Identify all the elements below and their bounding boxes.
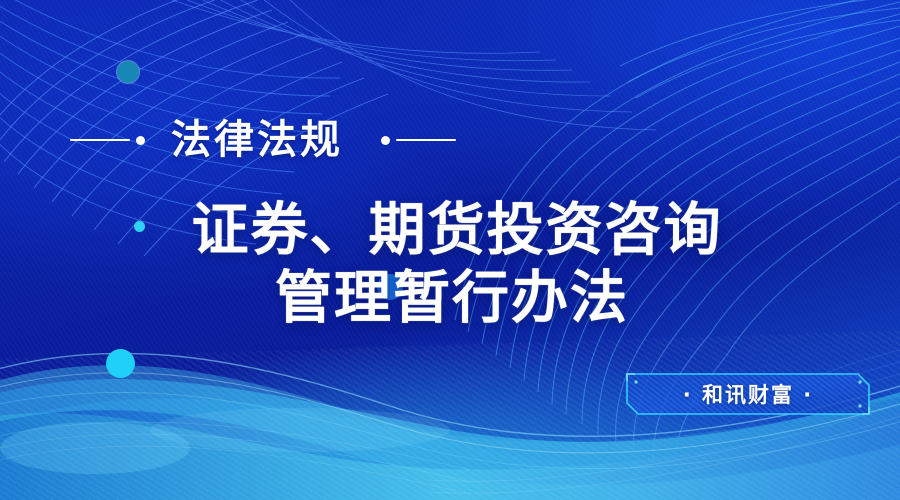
large-cyan-circle-icon xyxy=(106,349,135,378)
page-title: 证券、期货投资咨询 管理暂行办法 xyxy=(0,196,900,332)
brand-badge[interactable]: · 和讯财富 · xyxy=(626,373,870,415)
page-title-line-1: 证券、期货投资咨询 xyxy=(0,196,900,264)
teal-circle-icon xyxy=(117,61,139,83)
rule-right-icon xyxy=(381,135,456,145)
rule-left-icon xyxy=(70,135,145,145)
rule-right-dot-icon xyxy=(381,136,390,145)
rule-right-bar xyxy=(396,139,456,141)
banner-root: 法律法规 证券、期货投资咨询 管理暂行办法 xyxy=(0,0,900,500)
brand-badge-label: · 和讯财富 · xyxy=(626,373,870,415)
page-title-line-2: 管理暂行办法 xyxy=(0,264,900,332)
kicker-label: 法律法规 xyxy=(171,120,343,160)
rule-left-dot-icon xyxy=(136,136,145,145)
rule-left-bar xyxy=(70,139,130,141)
kicker-row: 法律法规 xyxy=(0,112,530,168)
